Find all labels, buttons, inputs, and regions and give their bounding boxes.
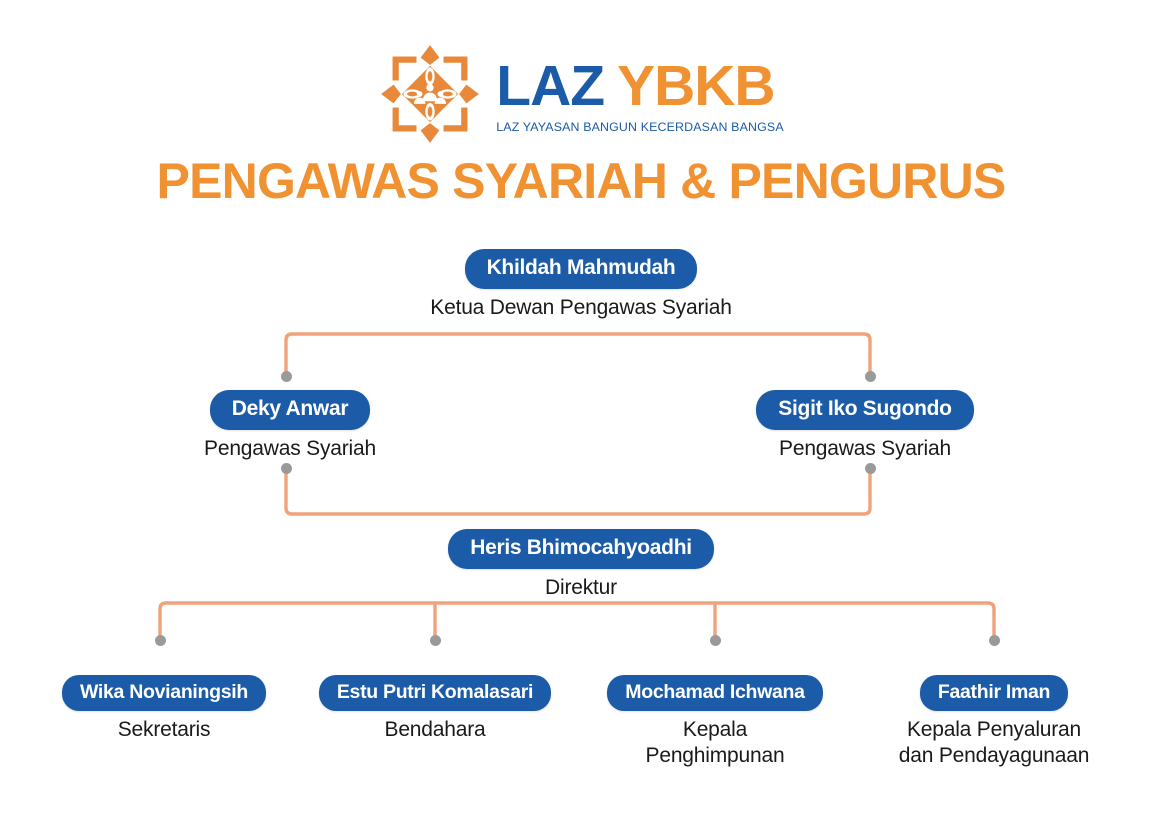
org-node-pengawas-right-role: Pengawas Syariah [779, 436, 951, 462]
org-node-bendahara[interactable]: Estu Putri Komalasari Bendahara [296, 675, 574, 743]
org-node-pengawas-left-role: Pengawas Syariah [204, 436, 376, 462]
connector-dot-pengawas-right [865, 371, 876, 382]
org-node-sekretaris[interactable]: Wika Novianingsih Sekretaris [20, 675, 308, 743]
org-node-pengawas-right[interactable]: Sigit Iko Sugondo Pengawas Syariah [670, 390, 1060, 462]
org-node-bendahara-role: Bendahara [385, 717, 486, 743]
org-node-pengawas-right-name[interactable]: Sigit Iko Sugondo [756, 390, 973, 430]
connector-dot-pengawas-left [281, 371, 292, 382]
page-title: PENGAWAS SYARIAH & PENGURUS [0, 152, 1162, 210]
org-node-ketua-name[interactable]: Khildah Mahmudah [465, 249, 698, 289]
org-node-penghimpunan-role: Kepala Penghimpunan [646, 717, 785, 768]
brand-tagline: LAZ YAYASAN BANGUN KECERDASAN BANGSA [496, 120, 783, 134]
connector-dot-sekretaris [155, 635, 166, 646]
brand-wordmark: LAZ YBKB LAZ YAYASAN BANGUN KECERDASAN B… [496, 54, 783, 134]
connector-dot-direktur-right [865, 463, 876, 474]
page-header: LAZ YBKB LAZ YAYASAN BANGUN KECERDASAN B… [0, 0, 1162, 225]
org-node-penghimpunan[interactable]: Mochamad Ichwana Kepala Penghimpunan [578, 675, 852, 769]
org-node-penghimpunan-name[interactable]: Mochamad Ichwana [607, 675, 822, 711]
brand-logo: LAZ YBKB LAZ YAYASAN BANGUN KECERDASAN B… [0, 42, 1162, 146]
brand-word-laz: LAZ [496, 58, 604, 115]
connector-dot-penyaluran [989, 635, 1000, 646]
org-node-direktur[interactable]: Heris Bhimocahyoadhi Direktur [0, 529, 1162, 601]
org-node-pengawas-left[interactable]: Deky Anwar Pengawas Syariah [95, 390, 485, 462]
org-node-sekretaris-role: Sekretaris [118, 717, 211, 743]
connector-dot-bendahara [430, 635, 441, 646]
org-node-direktur-name[interactable]: Heris Bhimocahyoadhi [448, 529, 714, 569]
org-node-ketua[interactable]: Khildah Mahmudah Ketua Dewan Pengawas Sy… [0, 249, 1162, 321]
brand-word-ybkb: YBKB [617, 58, 775, 115]
org-node-bendahara-name[interactable]: Estu Putri Komalasari [319, 675, 551, 711]
connector-dot-penghimpunan [710, 635, 721, 646]
org-node-pengawas-left-name[interactable]: Deky Anwar [210, 390, 370, 430]
org-node-ketua-role: Ketua Dewan Pengawas Syariah [430, 295, 731, 321]
org-node-penyaluran[interactable]: Faathir Iman Kepala Penyaluran dan Penda… [858, 675, 1130, 769]
org-node-penyaluran-name[interactable]: Faathir Iman [920, 675, 1068, 711]
org-node-penyaluran-role: Kepala Penyaluran dan Pendayagunaan [899, 717, 1089, 768]
org-node-sekretaris-name[interactable]: Wika Novianingsih [62, 675, 266, 711]
laz-ybkb-mandala-logo-icon [378, 42, 482, 146]
org-node-direktur-role: Direktur [545, 575, 617, 601]
connector-dot-direktur-left [281, 463, 292, 474]
